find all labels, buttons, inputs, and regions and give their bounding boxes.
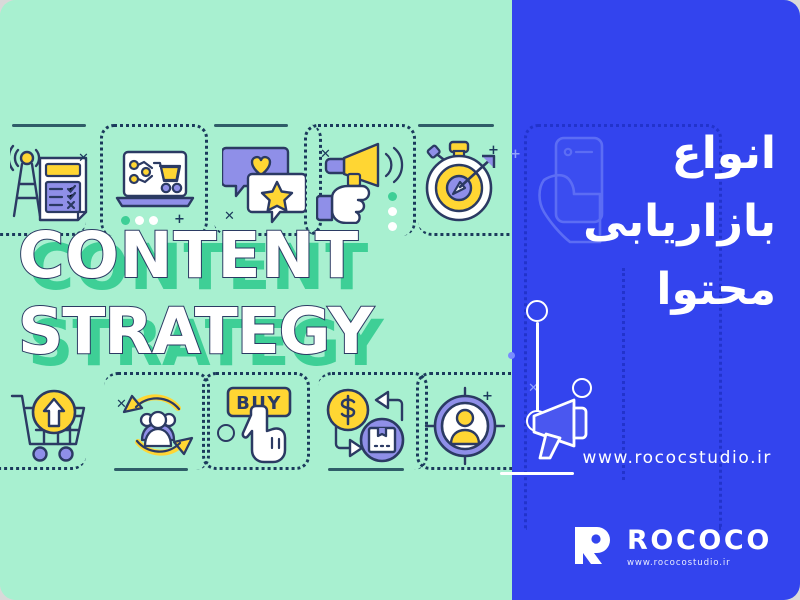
decor-dot-blue-1 xyxy=(508,352,515,359)
decor-underline-blue xyxy=(500,472,574,475)
persian-headline: انواع بازاریابی محتوا xyxy=(526,120,776,325)
rococo-logo[interactable]: ROCOCO www.rococostudio.ir xyxy=(572,524,772,570)
wordart-line-1: CONTENT CONTENT xyxy=(18,228,498,296)
persian-headline-line-3: محتوا xyxy=(526,256,776,324)
rococo-logo-url: www.rococostudio.ir xyxy=(627,558,731,568)
side-dot-active xyxy=(388,192,397,201)
decor-ring-blue-3 xyxy=(572,378,592,398)
shopping-cart-up-arrow-icon xyxy=(8,386,92,468)
wordart-line-2: STRATEGY STRATEGY xyxy=(18,304,498,372)
wordart-line-2-text: STRATEGY xyxy=(18,304,373,359)
rule-bottom-1 xyxy=(114,468,188,471)
wordart-heading: CONTENT CONTENT STRATEGY STRATEGY xyxy=(18,228,498,372)
x-mark-top-1: ✕ xyxy=(78,152,89,165)
right-blue-panel: + ✕ انواع xyxy=(512,0,800,600)
wordart-line-1-text: CONTENT xyxy=(18,228,359,283)
plus-mark-bottom-5: + xyxy=(482,390,493,403)
left-mint-panel: ✕ + xyxy=(0,0,512,600)
side-dot-2 xyxy=(388,207,397,216)
audience-refresh-cycle-icon xyxy=(118,388,198,468)
x-mark-top-4: ✕ xyxy=(320,148,331,161)
rococo-brand-name: ROCOCO xyxy=(627,527,772,554)
decor-circle-bottom-3 xyxy=(217,424,235,442)
poster-canvas: ✕ + xyxy=(0,0,800,600)
website-url-text[interactable]: www.rococstudio.ir xyxy=(583,448,773,468)
plus-mark-blue-1: + xyxy=(510,148,521,161)
x-mark-bottom-2: ✕ xyxy=(116,398,127,411)
target-audience-person-icon xyxy=(424,386,506,470)
money-package-exchange-icon xyxy=(322,386,408,470)
rococo-logo-text: ROCOCO www.rococostudio.ir xyxy=(627,527,772,568)
persian-headline-line-1: انواع xyxy=(526,120,776,188)
persian-headline-line-2: بازاریابی xyxy=(526,188,776,256)
plus-mark-top-5: + xyxy=(488,144,499,157)
rococo-r-logo-mark xyxy=(572,524,614,570)
